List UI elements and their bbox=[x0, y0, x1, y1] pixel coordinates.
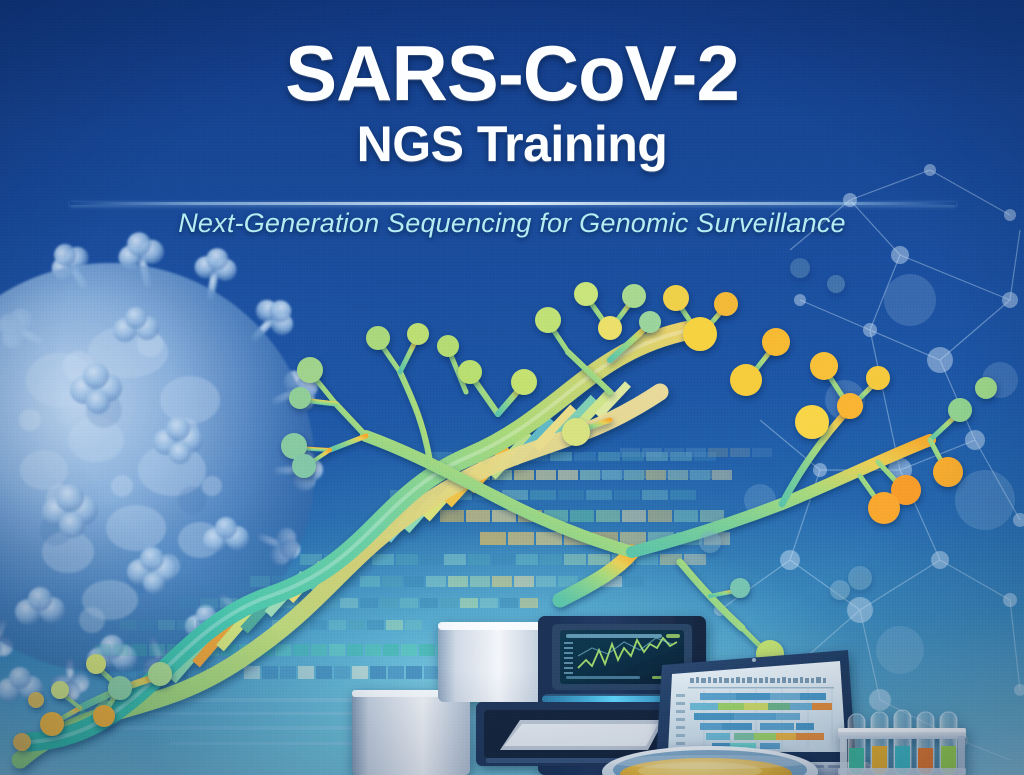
header-divider bbox=[70, 202, 956, 205]
page-tagline: Next-Generation Sequencing for Genomic S… bbox=[0, 208, 1024, 239]
poster-header: SARS-CoV-2 NGS Training bbox=[0, 0, 1024, 170]
page-title: SARS-CoV-2 bbox=[0, 0, 1024, 114]
page-subtitle: NGS Training bbox=[0, 118, 1024, 171]
poster-canvas: SARS-CoV-2 NGS Training Next-Generation … bbox=[0, 0, 1024, 775]
